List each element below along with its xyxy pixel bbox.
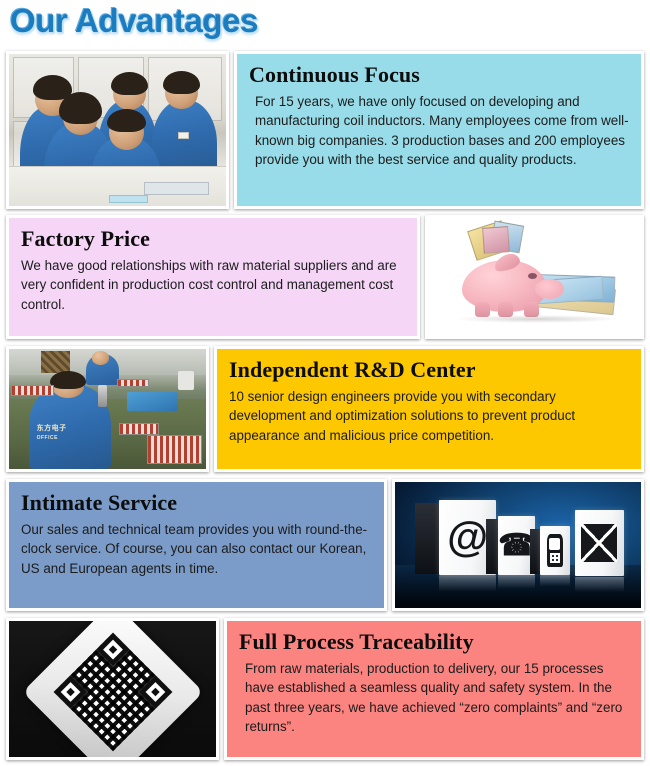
block-title-traceability: Full Process Traceability (239, 630, 629, 655)
production-line-photo: 东方电子 OFFICE (6, 346, 209, 472)
block-title-rd-center: Independent R&D Center (229, 358, 629, 383)
advantage-text-rd-center: Independent R&D Center 10 senior design … (214, 346, 644, 472)
advantage-row-rd-center: 东方电子 OFFICE Independent R&D Center 10 se… (6, 346, 644, 472)
advantage-text-intimate-service: Intimate Service Our sales and technical… (6, 479, 387, 611)
block-title-intimate-service: Intimate Service (21, 491, 372, 516)
advantage-row-continuous-focus: Continuous Focus For 15 years, we have o… (6, 51, 644, 209)
advantage-text-traceability: Full Process Traceability From raw mater… (224, 618, 644, 760)
advantages-infographic: Our Advantages (0, 0, 650, 766)
mobile-phone-icon (540, 526, 570, 575)
uniform-logo-text: 东方电子 (37, 423, 67, 433)
block-body-continuous-focus: For 15 years, we have only focused on de… (249, 92, 629, 170)
factory-workers-photo (6, 51, 229, 209)
block-body-rd-center: 10 senior design engineers provide you w… (229, 387, 629, 446)
page-title: Our Advantages (10, 2, 258, 40)
piggy-bank-euros-photo (425, 215, 644, 339)
qr-code-tag (22, 621, 203, 757)
block-body-intimate-service: Our sales and technical team provides yo… (21, 520, 372, 579)
advantage-row-traceability: Full Process Traceability From raw mater… (6, 618, 644, 760)
block-title-factory-price: Factory Price (21, 227, 405, 252)
qr-code-tag-photo (6, 618, 219, 760)
advantage-row-intimate-service: @ ☎ Intimate Service (6, 479, 644, 611)
block-title-continuous-focus: Continuous Focus (249, 63, 629, 88)
block-body-traceability: From raw materials, production to delive… (239, 659, 629, 737)
uniform-logo-subtext: OFFICE (37, 435, 58, 441)
advantage-row-factory-price: Factory Price We have good relationships… (6, 215, 644, 339)
advantage-text-factory-price: Factory Price We have good relationships… (6, 215, 420, 339)
advantage-text-continuous-focus: Continuous Focus For 15 years, we have o… (234, 51, 644, 209)
contact-icons-photo: @ ☎ (392, 479, 644, 611)
envelope-icon (575, 510, 624, 577)
block-body-factory-price: We have good relationships with raw mate… (21, 256, 405, 315)
